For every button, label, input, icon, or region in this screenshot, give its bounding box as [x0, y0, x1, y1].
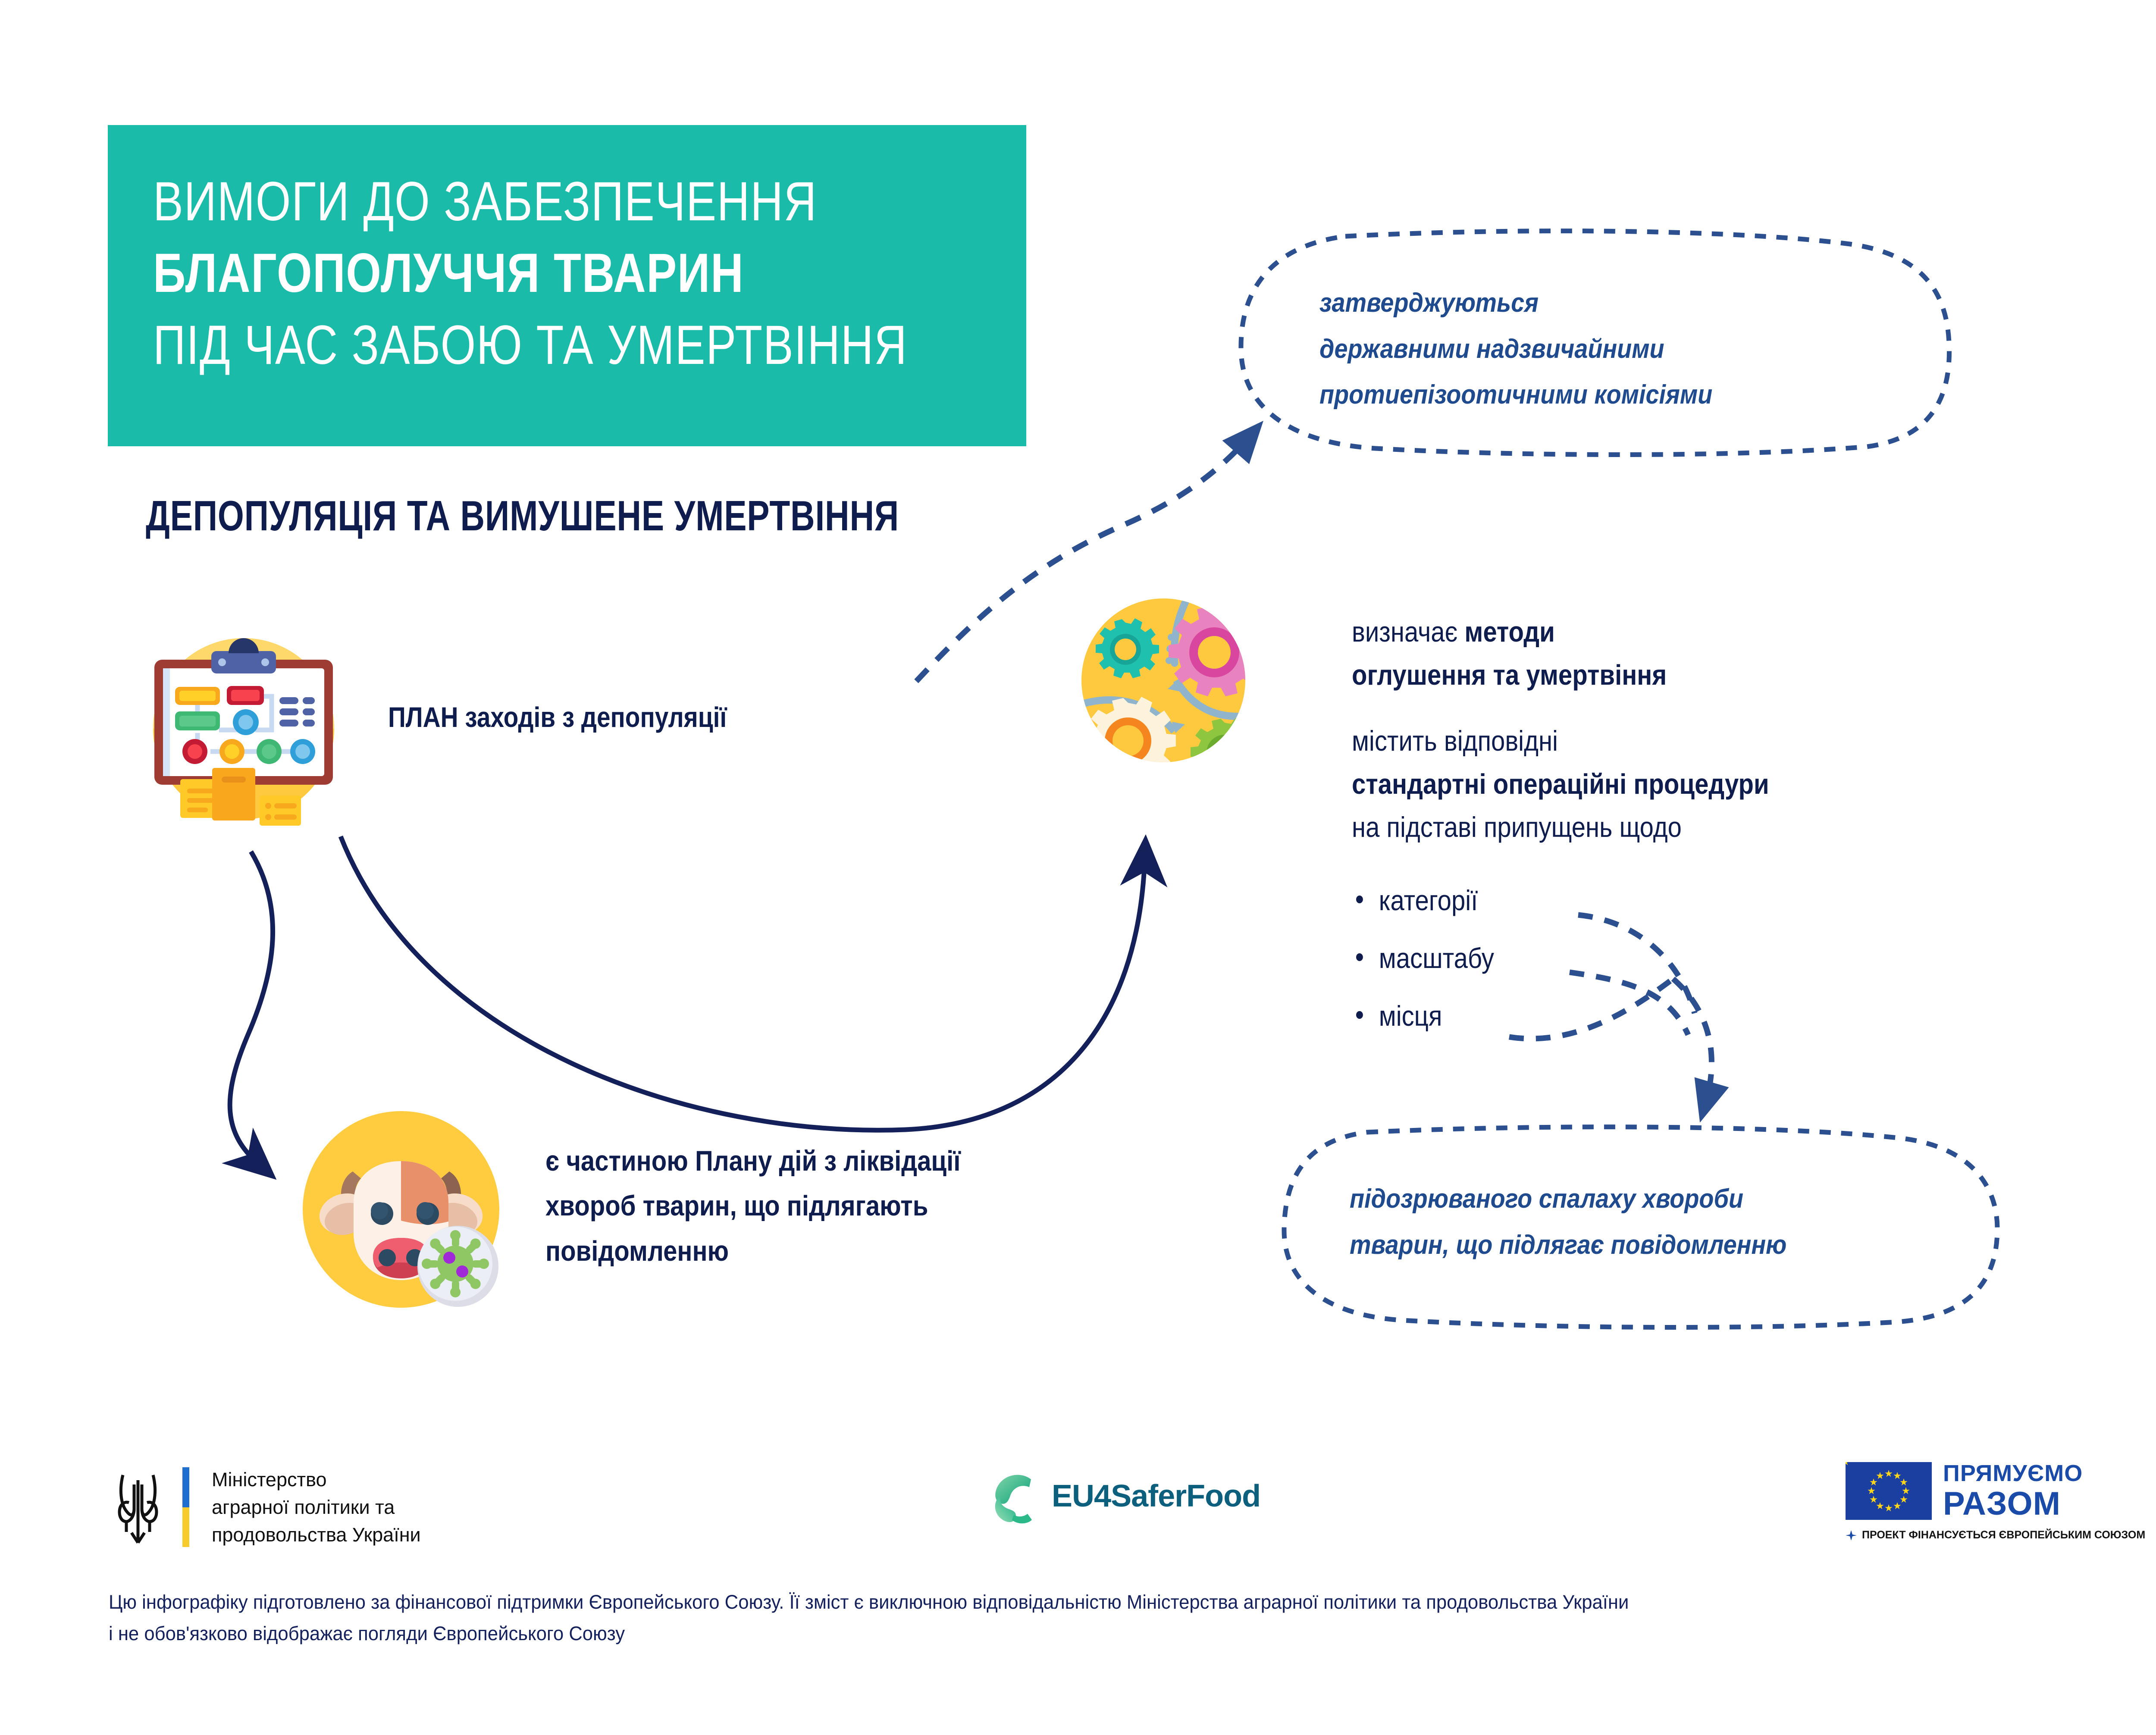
speech-bubble-top: затверджуються державними надзвичайними … — [1233, 224, 1958, 457]
eu-together-wordmark: ПРЯМУЄМО РАЗОМ — [1943, 1462, 2083, 1520]
gears-description-block: визначає методи оглушення та умертвіння … — [1352, 610, 2085, 849]
bullet-label: масштабу — [1379, 942, 1494, 974]
clipboard-plan-icon — [142, 623, 345, 826]
rb-line-4: стандартні операційні процедури — [1352, 762, 1997, 805]
list-item: масштабу — [1356, 942, 1494, 974]
arrow-bullet-masshtabu — [1570, 972, 1688, 1035]
rb-1-bold: методи — [1464, 616, 1554, 648]
title-line-3: ПІД ЧАС ЗАБОЮ ТА УМЕРТВІННЯ — [153, 310, 869, 381]
rb-line-2: оглушення та умертвіння — [1352, 653, 1997, 696]
title-line-1: ВИМОГИ ДО ЗАБЕЗПЕЧЕННЯ — [153, 166, 869, 238]
plan-label-rest: заходів з депопуляції — [458, 701, 727, 733]
bullet-dot-icon — [1356, 1011, 1363, 1019]
plan-node-label: ПЛАН заходів з депопуляції — [388, 701, 727, 733]
ministry-line-3: продовольства України — [212, 1521, 421, 1549]
arrow-bullets-to-bottombubble — [1673, 979, 1711, 1104]
eu-together-word-2: РАЗОМ — [1943, 1488, 2083, 1520]
disclaimer-line-1: Цю інфографіку підготовлено за фінансово… — [109, 1587, 2075, 1618]
eu4saferfood-swirl-icon — [990, 1468, 1046, 1524]
section-subtitle: ДЕПОПУЛЯЦІЯ ТА ВИМУШЕНЕ УМЕРТВІННЯ — [146, 492, 899, 540]
disclaimer-line-2: і не обов'язково відображає погляди Євро… — [109, 1618, 2075, 1650]
cow-label-part1: є частиною — [545, 1145, 695, 1177]
eu-together-logo: ПРЯМУЄМО РАЗОМ ПРОЕКТ ФІНАНСУЄТЬСЯ ЄВРОП… — [1846, 1462, 2145, 1541]
bubble-top-line-3: протиепізоотичними комісіями — [1319, 372, 1712, 418]
eu-together-word-1: ПРЯМУЄМО — [1943, 1462, 2083, 1485]
ministry-name: Міністерство аграрної політики та продов… — [212, 1466, 421, 1549]
bubble-bottom-text: підозрюваного спалаху хвороби тварин, що… — [1350, 1176, 1786, 1268]
list-item: місця — [1356, 999, 1494, 1032]
rb-line-3: містить відповідні — [1352, 719, 1997, 762]
plan-label-strong: ПЛАН — [388, 701, 458, 733]
gears-icon — [1077, 594, 1250, 767]
bubble-top-line-1: затверджуються — [1319, 280, 1712, 326]
rb-1-reg: визначає — [1352, 616, 1464, 648]
eu-funding-caption: ПРОЕКТ ФІНАНСУЄТЬСЯ ЄВРОПЕЙСЬКИМ СОЮЗОМ — [1862, 1529, 2145, 1541]
arrow-bullet-kategorii — [1578, 915, 1695, 1013]
bullet-label: місця — [1379, 999, 1442, 1032]
rb-line-5: на підставі припущень щодо — [1352, 805, 1997, 849]
rb-line-1: визначає методи — [1352, 610, 1997, 653]
ministry-logo: Міністерство аграрної політики та продов… — [114, 1466, 421, 1549]
bullet-dot-icon — [1356, 896, 1363, 903]
ministry-line-2: аграрної політики та — [212, 1494, 421, 1521]
cow-node-label: є частиною Плану дій з ліквідації хвороб… — [545, 1138, 1153, 1273]
eu-flag-icon — [1846, 1462, 1932, 1520]
ukraine-flag-bar — [182, 1467, 189, 1547]
bullet-dot-icon — [1356, 953, 1363, 961]
assumption-bullet-list: категорії масштабу місця — [1356, 884, 1513, 1057]
eu4saferfood-logo: EU4SaferFood — [990, 1468, 1260, 1524]
arrow-bullet-mistsya — [1509, 979, 1673, 1039]
list-item: категорії — [1356, 884, 1494, 917]
speech-bubble-bottom: підозрюваного спалаху хвороби тварин, що… — [1276, 1121, 2005, 1332]
bullet-label: категорії — [1379, 884, 1478, 917]
title-line-2: БЛАГОПОЛУЧЧЯ ТВАРИН — [153, 238, 869, 309]
bubble-top-line-2: державними надзвичайними — [1319, 326, 1712, 373]
cow-label-strong3: повідомленню — [545, 1235, 729, 1267]
eu-star-bullet-icon — [1846, 1530, 1857, 1541]
bubble-bottom-line-2: тварин, що підлягає повідомленню — [1350, 1222, 1786, 1268]
title-block: ВИМОГИ ДО ЗАБЕЗПЕЧЕННЯ БЛАГОПОЛУЧЧЯ ТВАР… — [108, 125, 1026, 446]
cow-label-strong2: хвороб тварин, що підлягають — [545, 1190, 928, 1221]
cow-virus-icon — [298, 1106, 505, 1313]
arrow-plan-to-cow — [230, 852, 273, 1164]
ministry-line-1: Міністерство — [212, 1466, 421, 1494]
arrow-plan-to-gears — [341, 836, 1145, 1130]
tryzub-icon — [114, 1467, 162, 1547]
eu4saferfood-wordmark: EU4SaferFood — [1052, 1478, 1260, 1514]
bubble-top-text: затверджуються державними надзвичайними … — [1319, 280, 1712, 418]
cow-label-strong1: Плану дій з ліквідації — [695, 1145, 961, 1177]
bubble-bottom-line-1: підозрюваного спалаху хвороби — [1350, 1176, 1786, 1222]
disclaimer-text: Цю інфографіку підготовлено за фінансово… — [109, 1587, 2075, 1650]
